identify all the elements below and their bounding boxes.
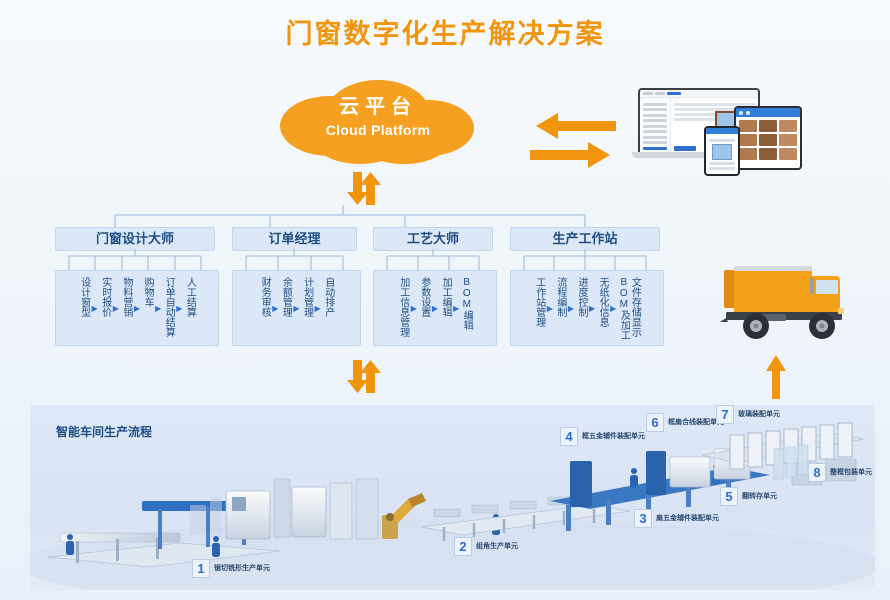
leaf-item[interactable]: 无纸化信息: [597, 277, 608, 327]
sidebar-row: [643, 125, 667, 128]
module-title-0: 门窗设计大师: [55, 227, 215, 251]
unit-label-7: 玻璃装配单元: [738, 409, 780, 419]
grid-tile: [739, 148, 757, 160]
chevron-right-icon: ▶: [134, 304, 140, 313]
grid-tile: [759, 148, 777, 160]
arrow-factory-truck: [765, 355, 787, 397]
leaf-item[interactable]: BOM编辑: [461, 277, 472, 330]
chevron-right-icon: ▶: [176, 304, 182, 313]
leaf-label: 实时报价: [100, 277, 111, 317]
grid-tile: [779, 134, 797, 146]
module-title-2: 工艺大师: [373, 227, 493, 251]
unit-label-8: 整框包装单元: [830, 467, 872, 477]
unit-badge-6[interactable]: 6: [646, 413, 664, 432]
laptop-sidebar: [640, 98, 671, 153]
leaf-label: 加工信息管理: [398, 277, 409, 335]
sidebar-row: [643, 114, 667, 117]
grid-tile: [739, 120, 757, 132]
sidebar-row: [643, 119, 667, 122]
leaf-item[interactable]: 自动排产: [323, 277, 334, 317]
unit-badge-2[interactable]: 2: [454, 537, 472, 556]
unit-badge-4[interactable]: 4: [560, 427, 578, 446]
toolbar-chip-active: [667, 92, 681, 95]
leaf-label: BOM编辑: [461, 277, 472, 330]
arrow-modules-factory: [343, 360, 377, 394]
laptop-toolbar: [640, 90, 758, 98]
module-title-3: 生产工作站: [510, 227, 660, 251]
module-items-2: 加工信息管理 ▶ 参数设置 ▶ 加工编辑 ▶ BOM编辑: [373, 270, 497, 346]
phone-content: [706, 134, 738, 175]
module-card-2[interactable]: 工艺大师: [373, 227, 493, 251]
module-card-1[interactable]: 订单经理: [232, 227, 357, 251]
tablet-dot: [739, 111, 743, 115]
leaf-item[interactable]: 加工信息管理: [398, 277, 409, 335]
leaf-label: 订单自动结算: [163, 277, 174, 335]
leaf-label: 参数设置: [419, 277, 430, 317]
chevron-right-icon: ▶: [453, 304, 459, 313]
module-title-1: 订单经理: [232, 227, 357, 251]
chevron-right-icon: ▶: [589, 304, 595, 313]
sidebar-row: [643, 130, 667, 133]
sidebar-row: [643, 108, 667, 111]
leaf-item[interactable]: 余额管理: [280, 277, 291, 317]
arrow-cloud-modules: [343, 172, 377, 206]
leaf-label: 加工编辑: [440, 277, 451, 317]
leaf-label: BOM及加工: [618, 277, 629, 335]
module-card-0[interactable]: 门窗设计大师: [55, 227, 215, 251]
unit-badge-8[interactable]: 8: [808, 463, 826, 482]
leaf-item[interactable]: 人工结算: [184, 277, 195, 317]
truck-icon: [712, 262, 872, 348]
leaf-item[interactable]: 物料营销: [121, 277, 132, 317]
phone-device: [704, 126, 740, 176]
chevron-right-icon: ▶: [610, 304, 616, 313]
leaf-item[interactable]: 工作站管理: [534, 277, 545, 327]
chevron-right-icon: ▶: [432, 304, 438, 313]
content-button: [674, 146, 696, 151]
module-items-0: 设计窗型 ▶ 实时报价 ▶ 物料营销 ▶ 购物车 ▶ 订单自动结算 ▶ 人工结算: [55, 270, 219, 346]
chevron-right-icon: ▶: [155, 304, 161, 313]
toolbar-chip: [655, 92, 665, 95]
diagram-canvas: 门窗数字化生产解决方案 云平台 Cloud Platform: [0, 0, 890, 600]
sidebar-row: [643, 141, 667, 144]
unit-label-2: 组角生产单元: [476, 541, 518, 551]
sidebar-row: [643, 103, 667, 106]
leaf-item[interactable]: 进度控制: [576, 277, 587, 317]
grid-tile: [739, 134, 757, 146]
chevron-right-icon: ▶: [272, 304, 278, 313]
unit-badge-1[interactable]: 1: [192, 559, 210, 578]
delivery-truck: [712, 262, 872, 348]
unit-badge-7[interactable]: 7: [716, 405, 734, 424]
chevron-right-icon: ▶: [113, 304, 119, 313]
leaf-item[interactable]: 实时报价: [100, 277, 111, 317]
unit-badge-3[interactable]: 3: [634, 509, 652, 528]
unit-badge-5[interactable]: 5: [720, 487, 738, 506]
unit-label-1: 锯切铣形生产单元: [214, 563, 270, 573]
leaf-label: 设计窗型: [79, 277, 90, 317]
module-items-1: 财务审核 ▶ 余额管理 ▶ 计划管理 ▶ 自动排产: [232, 270, 361, 346]
leaf-label: 购物车: [142, 277, 153, 307]
leaf-label: 文件存储显示: [629, 277, 640, 335]
leaf-label: 工作站管理: [534, 277, 545, 327]
module-tree: 门窗设计大师 设计窗型 ▶ 实时报价 ▶ 物料营销 ▶ 购物车 ▶ 订单自动结算…: [55, 205, 655, 355]
phone-row: [709, 167, 735, 170]
leaf-label: 余额管理: [280, 277, 291, 317]
grid-tile: [759, 134, 777, 146]
leaf-item[interactable]: 参数设置: [419, 277, 430, 317]
leaf-item[interactable]: 设计窗型: [79, 277, 90, 317]
phone-window-preview-icon: [712, 144, 732, 160]
tablet-device: [734, 106, 802, 170]
leaf-item[interactable]: 加工编辑: [440, 277, 451, 317]
leaf-item[interactable]: 文件存储显示: [629, 277, 640, 335]
leaf-item[interactable]: 计划管理: [302, 277, 313, 317]
leaf-label: 进度控制: [576, 277, 587, 317]
page-title: 门窗数字化生产解决方案: [0, 12, 890, 51]
unit-label-5: 翻转存单元: [742, 491, 777, 501]
grid-tile: [779, 148, 797, 160]
module-card-3[interactable]: 生产工作站: [510, 227, 660, 251]
module-connectors-1: [232, 249, 357, 271]
leaf-item[interactable]: 财务审核: [259, 277, 270, 317]
chevron-right-icon: ▶: [293, 304, 299, 313]
leaf-label: 计划管理: [302, 277, 313, 317]
tablet-product-grid: [736, 117, 800, 163]
leaf-item[interactable]: 流程编制: [555, 277, 566, 317]
chevron-right-icon: ▶: [92, 304, 98, 313]
unit-7-glass: [774, 445, 808, 479]
device-mockup-group: [632, 88, 818, 172]
cloud-icon: [268, 78, 488, 170]
module-connectors-3: [510, 249, 660, 271]
leaf-label: 无纸化信息: [597, 277, 608, 327]
phone-row: [709, 139, 735, 142]
leaf-label: 财务审核: [259, 277, 270, 317]
sidebar-row: [643, 136, 667, 139]
unit-label-4: 框五金辅件装配单元: [582, 431, 645, 441]
leaf-label: 自动排产: [323, 277, 334, 317]
unit-label-3: 扇五金辅件装配单元: [656, 513, 719, 523]
leaf-item[interactable]: BOM及加工: [618, 277, 629, 335]
leaf-item[interactable]: 订单自动结算: [163, 277, 174, 335]
cloud-platform-node: 云平台 Cloud Platform: [268, 78, 488, 170]
chevron-right-icon: ▶: [315, 304, 321, 313]
tablet-dot: [746, 111, 750, 115]
module-connectors-0: [55, 249, 215, 271]
grid-tile: [759, 120, 777, 132]
tablet-header: [736, 108, 800, 117]
factory-floor-panel: 智能车间生产流程: [30, 405, 875, 590]
chevron-right-icon: ▶: [547, 304, 553, 313]
chevron-right-icon: ▶: [568, 304, 574, 313]
grid-tile: [779, 120, 797, 132]
sidebar-row-selected: [643, 147, 667, 150]
arrow-cloud-devices: [528, 112, 612, 166]
module-items-3: 工作站管理 ▶ 流程编制 ▶ 进度控制 ▶ 无纸化信息 ▶ BOM及加工 文件存…: [510, 270, 664, 346]
leaf-item[interactable]: 购物车: [142, 277, 153, 307]
leaf-label: 流程编制: [555, 277, 566, 317]
leaf-label: 人工结算: [184, 277, 195, 317]
phone-row: [709, 162, 735, 165]
toolbar-chip: [643, 92, 653, 95]
chevron-right-icon: ▶: [411, 304, 417, 313]
module-connectors-2: [373, 249, 493, 271]
leaf-label: 物料营销: [121, 277, 132, 317]
